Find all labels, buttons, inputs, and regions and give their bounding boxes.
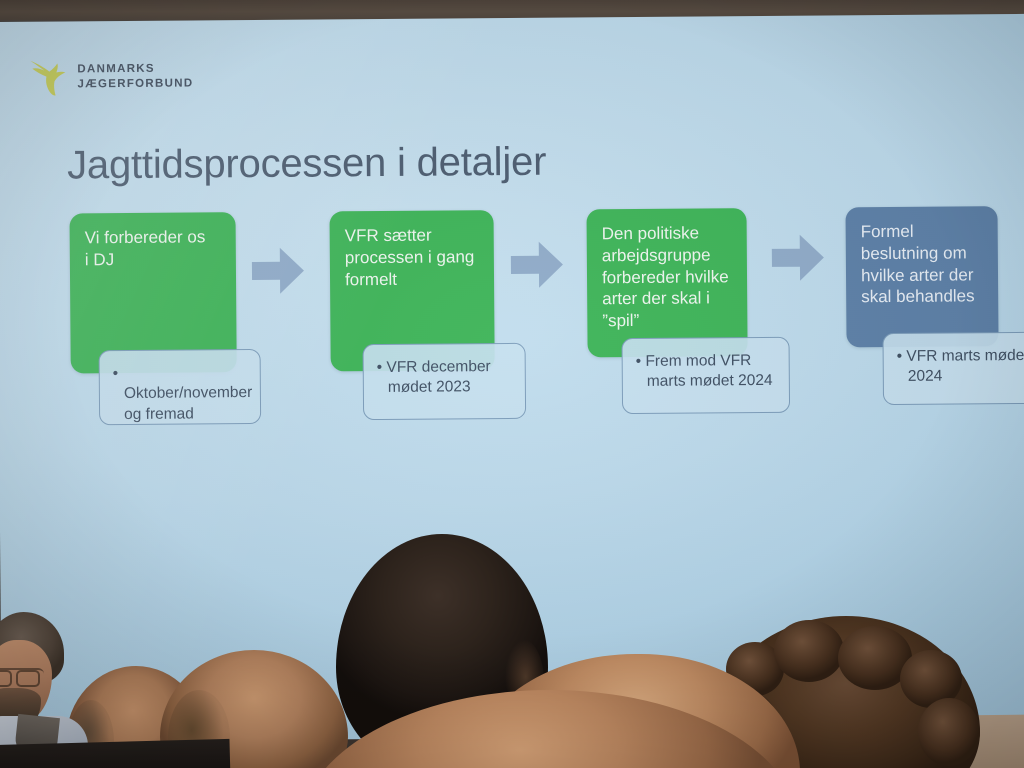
photograph-of-projected-slide: DANMARKS JÆGERFORBUND Jagttidsprocessen … bbox=[0, 0, 1024, 768]
callout-text-1: • Oktober/november og fremad bbox=[113, 363, 248, 425]
process-step-callout-3: • Frem mod VFR marts mødet 2024 bbox=[622, 337, 791, 414]
slide-title: Jagttidsprocessen i detaljer bbox=[67, 140, 546, 189]
brand-logo: DANMARKS JÆGERFORBUND bbox=[26, 56, 193, 97]
process-step-box-4: Formel beslutning om hvilke arter der sk… bbox=[845, 206, 998, 347]
process-arrow-3 bbox=[770, 230, 826, 284]
callout-text-3: • Frem mod VFR marts mødet 2024 bbox=[636, 351, 777, 393]
process-step-callout-2: • VFR december mødet 2023 bbox=[363, 343, 527, 420]
projection-screen: DANMARKS JÆGERFORBUND Jagttidsprocessen … bbox=[0, 14, 1024, 742]
table-edge bbox=[0, 739, 230, 768]
callout-text-4: • VFR marts mødet 2024 bbox=[897, 346, 1024, 388]
process-step-box-3: Den politiske arbejdsgruppe forbereder h… bbox=[586, 208, 747, 357]
flying-goose-icon bbox=[26, 57, 68, 97]
brand-logo-text: DANMARKS JÆGERFORBUND bbox=[77, 62, 193, 92]
callout-text-2: • VFR december mødet 2023 bbox=[377, 357, 513, 399]
process-step-callout-1: • Oktober/november og fremad bbox=[99, 349, 262, 425]
process-arrow-1 bbox=[250, 244, 306, 298]
process-diagram: Vi forbereder os i DJ • Oktober/november… bbox=[0, 206, 1024, 444]
process-step-callout-4: • VFR marts mødet 2024 bbox=[882, 332, 1024, 405]
process-arrow-2 bbox=[509, 238, 565, 292]
